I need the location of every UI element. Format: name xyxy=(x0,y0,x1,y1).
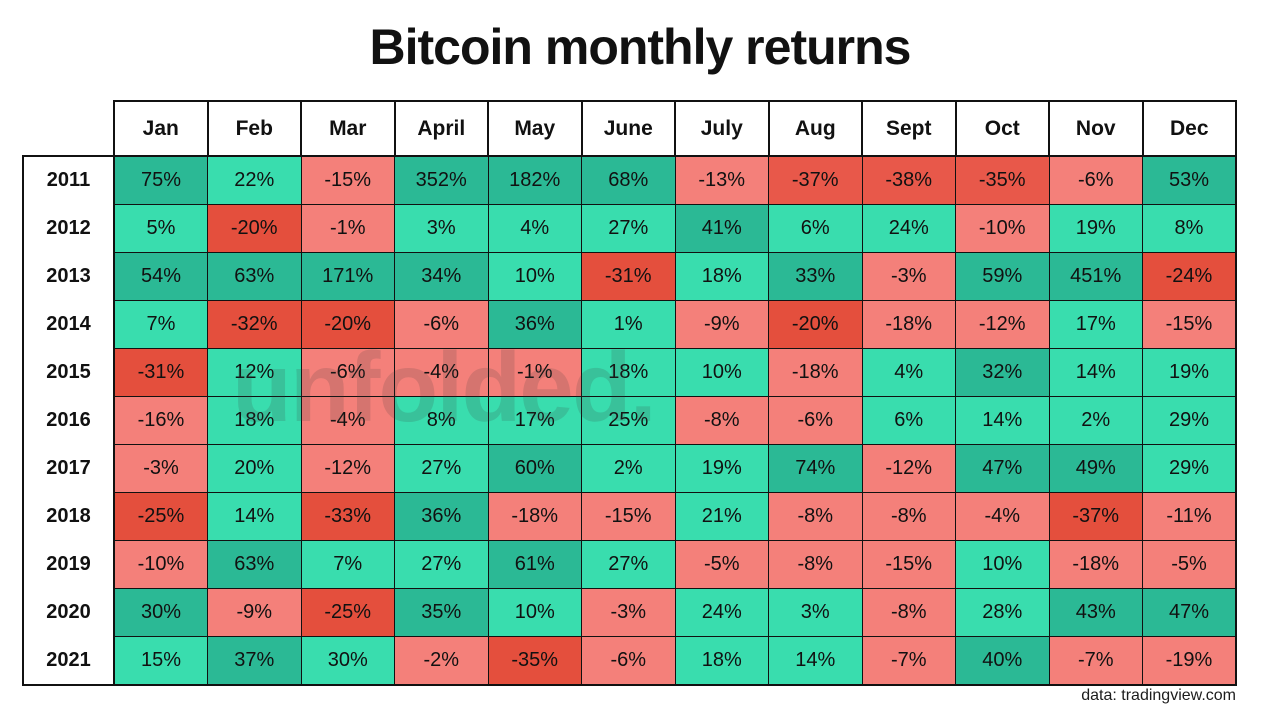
heatmap-cell-2020-nov: 43% xyxy=(1049,589,1143,637)
header-row: JanFebMarAprilMayJuneJulyAugSeptOctNovDe… xyxy=(23,101,1236,156)
heatmap-cell-2011-july: -13% xyxy=(675,156,769,205)
heatmap-cell-2016-dec: 29% xyxy=(1143,397,1237,445)
heatmap-cell-2019-mar: 7% xyxy=(301,541,395,589)
row-header-year-2020: 2020 xyxy=(23,589,114,637)
row-header-year-2019: 2019 xyxy=(23,541,114,589)
heatmap-cell-2013-april: 34% xyxy=(395,253,489,301)
table-row: 20125%-20%-1%3%4%27%41%6%24%-10%19%8% xyxy=(23,205,1236,253)
heatmap-cell-2015-feb: 12% xyxy=(208,349,302,397)
heatmap-cell-2017-oct: 47% xyxy=(956,445,1050,493)
heatmap-cell-2011-mar: -15% xyxy=(301,156,395,205)
heatmap-cell-2015-dec: 19% xyxy=(1143,349,1237,397)
heatmap-cell-2011-may: 182% xyxy=(488,156,582,205)
heatmap-cell-2020-aug: 3% xyxy=(769,589,863,637)
heatmap-cell-2012-dec: 8% xyxy=(1143,205,1237,253)
heatmap-cell-2013-dec: -24% xyxy=(1143,253,1237,301)
heatmap-cell-2020-april: 35% xyxy=(395,589,489,637)
heatmap-cell-2014-jan: 7% xyxy=(114,301,208,349)
heatmap-table-container: JanFebMarAprilMayJuneJulyAugSeptOctNovDe… xyxy=(22,100,1236,686)
heatmap-cell-2021-dec: -19% xyxy=(1143,637,1237,686)
table-row: 201175%22%-15%352%182%68%-13%-37%-38%-35… xyxy=(23,156,1236,205)
heatmap-cell-2021-sept: -7% xyxy=(862,637,956,686)
heatmap-cell-2014-oct: -12% xyxy=(956,301,1050,349)
heatmap-cell-2018-june: -15% xyxy=(582,493,676,541)
table-row: 202115%37%30%-2%-35%-6%18%14%-7%40%-7%-1… xyxy=(23,637,1236,686)
column-header-june: June xyxy=(582,101,676,156)
row-header-year-2013: 2013 xyxy=(23,253,114,301)
heatmap-cell-2021-feb: 37% xyxy=(208,637,302,686)
heatmap-cell-2020-sept: -8% xyxy=(862,589,956,637)
column-header-april: April xyxy=(395,101,489,156)
heatmap-cell-2013-oct: 59% xyxy=(956,253,1050,301)
heatmap-cell-2014-dec: -15% xyxy=(1143,301,1237,349)
heatmap-cell-2019-oct: 10% xyxy=(956,541,1050,589)
heatmap-cell-2016-nov: 2% xyxy=(1049,397,1143,445)
heatmap-cell-2012-feb: -20% xyxy=(208,205,302,253)
heatmap-cell-2015-jan: -31% xyxy=(114,349,208,397)
heatmap-cell-2019-april: 27% xyxy=(395,541,489,589)
heatmap-cell-2020-dec: 47% xyxy=(1143,589,1237,637)
heatmap-cell-2018-april: 36% xyxy=(395,493,489,541)
table-row: 201354%63%171%34%10%-31%18%33%-3%59%451%… xyxy=(23,253,1236,301)
table-row: 20147%-32%-20%-6%36%1%-9%-20%-18%-12%17%… xyxy=(23,301,1236,349)
heatmap-cell-2021-aug: 14% xyxy=(769,637,863,686)
heatmap-cell-2020-may: 10% xyxy=(488,589,582,637)
corner-cell xyxy=(23,101,114,156)
heatmap-cell-2021-nov: -7% xyxy=(1049,637,1143,686)
heatmap-cell-2016-july: -8% xyxy=(675,397,769,445)
heatmap-cell-2019-may: 61% xyxy=(488,541,582,589)
heatmap-cell-2018-sept: -8% xyxy=(862,493,956,541)
column-header-sept: Sept xyxy=(862,101,956,156)
heatmap-cell-2012-jan: 5% xyxy=(114,205,208,253)
row-header-year-2015: 2015 xyxy=(23,349,114,397)
heatmap-cell-2018-mar: -33% xyxy=(301,493,395,541)
heatmap-cell-2012-july: 41% xyxy=(675,205,769,253)
heatmap-cell-2016-may: 17% xyxy=(488,397,582,445)
heatmap-cell-2017-mar: -12% xyxy=(301,445,395,493)
table-header: JanFebMarAprilMayJuneJulyAugSeptOctNovDe… xyxy=(23,101,1236,156)
heatmap-cell-2017-sept: -12% xyxy=(862,445,956,493)
heatmap-cell-2017-may: 60% xyxy=(488,445,582,493)
heatmap-cell-2020-july: 24% xyxy=(675,589,769,637)
column-header-feb: Feb xyxy=(208,101,302,156)
heatmap-cell-2012-sept: 24% xyxy=(862,205,956,253)
column-header-jan: Jan xyxy=(114,101,208,156)
row-header-year-2014: 2014 xyxy=(23,301,114,349)
heatmap-cell-2013-mar: 171% xyxy=(301,253,395,301)
heatmap-cell-2015-mar: -6% xyxy=(301,349,395,397)
column-header-mar: Mar xyxy=(301,101,395,156)
heatmap-cell-2021-mar: 30% xyxy=(301,637,395,686)
row-header-year-2018: 2018 xyxy=(23,493,114,541)
heatmap-cell-2015-june: 18% xyxy=(582,349,676,397)
heatmap-cell-2018-may: -18% xyxy=(488,493,582,541)
heatmap-cell-2019-dec: -5% xyxy=(1143,541,1237,589)
heatmap-cell-2013-feb: 63% xyxy=(208,253,302,301)
table-row: 2016-16%18%-4%8%17%25%-8%-6%6%14%2%29% xyxy=(23,397,1236,445)
heatmap-cell-2013-june: -31% xyxy=(582,253,676,301)
heatmap-cell-2019-july: -5% xyxy=(675,541,769,589)
heatmap-cell-2014-aug: -20% xyxy=(769,301,863,349)
heatmap-cell-2014-may: 36% xyxy=(488,301,582,349)
table-body: 201175%22%-15%352%182%68%-13%-37%-38%-35… xyxy=(23,156,1236,685)
heatmap-cell-2021-july: 18% xyxy=(675,637,769,686)
heatmap-cell-2019-june: 27% xyxy=(582,541,676,589)
heatmap-cell-2013-sept: -3% xyxy=(862,253,956,301)
column-header-aug: Aug xyxy=(769,101,863,156)
heatmap-cell-2020-mar: -25% xyxy=(301,589,395,637)
table-row: 2017-3%20%-12%27%60%2%19%74%-12%47%49%29… xyxy=(23,445,1236,493)
heatmap-cell-2014-june: 1% xyxy=(582,301,676,349)
table-row: 2018-25%14%-33%36%-18%-15%21%-8%-8%-4%-3… xyxy=(23,493,1236,541)
heatmap-cell-2018-jan: -25% xyxy=(114,493,208,541)
heatmap-cell-2014-feb: -32% xyxy=(208,301,302,349)
heatmap-cell-2011-june: 68% xyxy=(582,156,676,205)
heatmap-cell-2011-nov: -6% xyxy=(1049,156,1143,205)
heatmap-cell-2016-oct: 14% xyxy=(956,397,1050,445)
heatmap-cell-2015-aug: -18% xyxy=(769,349,863,397)
row-header-year-2017: 2017 xyxy=(23,445,114,493)
row-header-year-2021: 2021 xyxy=(23,637,114,686)
heatmap-cell-2013-jan: 54% xyxy=(114,253,208,301)
heatmap-cell-2011-oct: -35% xyxy=(956,156,1050,205)
heatmap-cell-2012-april: 3% xyxy=(395,205,489,253)
table-row: 2019-10%63%7%27%61%27%-5%-8%-15%10%-18%-… xyxy=(23,541,1236,589)
column-header-nov: Nov xyxy=(1049,101,1143,156)
heatmap-cell-2017-jan: -3% xyxy=(114,445,208,493)
heatmap-cell-2015-may: -1% xyxy=(488,349,582,397)
heatmap-cell-2015-oct: 32% xyxy=(956,349,1050,397)
heatmap-cell-2012-oct: -10% xyxy=(956,205,1050,253)
column-header-july: July xyxy=(675,101,769,156)
heatmap-cell-2016-jan: -16% xyxy=(114,397,208,445)
heatmap-cell-2018-nov: -37% xyxy=(1049,493,1143,541)
heatmap-cell-2018-feb: 14% xyxy=(208,493,302,541)
heatmap-cell-2013-may: 10% xyxy=(488,253,582,301)
source-note: data: tradingview.com xyxy=(1081,687,1236,705)
column-header-oct: Oct xyxy=(956,101,1050,156)
heatmap-cell-2020-jan: 30% xyxy=(114,589,208,637)
heatmap-cell-2016-aug: -6% xyxy=(769,397,863,445)
heatmap-cell-2011-dec: 53% xyxy=(1143,156,1237,205)
heatmap-cell-2014-july: -9% xyxy=(675,301,769,349)
row-header-year-2016: 2016 xyxy=(23,397,114,445)
monthly-returns-heatmap: JanFebMarAprilMayJuneJulyAugSeptOctNovDe… xyxy=(22,100,1237,686)
heatmap-cell-2016-april: 8% xyxy=(395,397,489,445)
heatmap-cell-2015-sept: 4% xyxy=(862,349,956,397)
table-row: 2015-31%12%-6%-4%-1%18%10%-18%4%32%14%19… xyxy=(23,349,1236,397)
heatmap-cell-2011-jan: 75% xyxy=(114,156,208,205)
heatmap-cell-2018-dec: -11% xyxy=(1143,493,1237,541)
heatmap-cell-2019-jan: -10% xyxy=(114,541,208,589)
heatmap-cell-2016-mar: -4% xyxy=(301,397,395,445)
heatmap-cell-2020-june: -3% xyxy=(582,589,676,637)
heatmap-cell-2013-aug: 33% xyxy=(769,253,863,301)
heatmap-cell-2011-aug: -37% xyxy=(769,156,863,205)
heatmap-cell-2016-june: 25% xyxy=(582,397,676,445)
row-header-year-2011: 2011 xyxy=(23,156,114,205)
heatmap-cell-2018-oct: -4% xyxy=(956,493,1050,541)
heatmap-cell-2017-july: 19% xyxy=(675,445,769,493)
column-header-may: May xyxy=(488,101,582,156)
heatmap-cell-2021-may: -35% xyxy=(488,637,582,686)
heatmap-cell-2017-april: 27% xyxy=(395,445,489,493)
heatmap-cell-2017-aug: 74% xyxy=(769,445,863,493)
heatmap-cell-2014-nov: 17% xyxy=(1049,301,1143,349)
heatmap-cell-2017-june: 2% xyxy=(582,445,676,493)
heatmap-cell-2012-june: 27% xyxy=(582,205,676,253)
heatmap-cell-2013-july: 18% xyxy=(675,253,769,301)
heatmap-cell-2021-april: -2% xyxy=(395,637,489,686)
heatmap-cell-2020-feb: -9% xyxy=(208,589,302,637)
heatmap-cell-2014-sept: -18% xyxy=(862,301,956,349)
heatmap-cell-2020-oct: 28% xyxy=(956,589,1050,637)
heatmap-cell-2011-feb: 22% xyxy=(208,156,302,205)
heatmap-cell-2011-april: 352% xyxy=(395,156,489,205)
heatmap-cell-2014-april: -6% xyxy=(395,301,489,349)
heatmap-cell-2018-july: 21% xyxy=(675,493,769,541)
heatmap-cell-2012-mar: -1% xyxy=(301,205,395,253)
heatmap-cell-2015-april: -4% xyxy=(395,349,489,397)
heatmap-cell-2019-feb: 63% xyxy=(208,541,302,589)
heatmap-cell-2017-dec: 29% xyxy=(1143,445,1237,493)
heatmap-cell-2011-sept: -38% xyxy=(862,156,956,205)
heatmap-cell-2017-nov: 49% xyxy=(1049,445,1143,493)
heatmap-cell-2012-may: 4% xyxy=(488,205,582,253)
heatmap-cell-2012-aug: 6% xyxy=(769,205,863,253)
heatmap-cell-2014-mar: -20% xyxy=(301,301,395,349)
heatmap-cell-2015-july: 10% xyxy=(675,349,769,397)
column-header-dec: Dec xyxy=(1143,101,1237,156)
heatmap-cell-2019-nov: -18% xyxy=(1049,541,1143,589)
page-title: Bitcoin monthly returns xyxy=(0,18,1280,76)
heatmap-cell-2021-jan: 15% xyxy=(114,637,208,686)
heatmap-cell-2016-feb: 18% xyxy=(208,397,302,445)
heatmap-cell-2016-sept: 6% xyxy=(862,397,956,445)
heatmap-cell-2021-june: -6% xyxy=(582,637,676,686)
heatmap-cell-2021-oct: 40% xyxy=(956,637,1050,686)
table-row: 202030%-9%-25%35%10%-3%24%3%-8%28%43%47% xyxy=(23,589,1236,637)
heatmap-cell-2013-nov: 451% xyxy=(1049,253,1143,301)
heatmap-cell-2015-nov: 14% xyxy=(1049,349,1143,397)
heatmap-cell-2017-feb: 20% xyxy=(208,445,302,493)
row-header-year-2012: 2012 xyxy=(23,205,114,253)
heatmap-cell-2019-sept: -15% xyxy=(862,541,956,589)
heatmap-cell-2018-aug: -8% xyxy=(769,493,863,541)
heatmap-cell-2019-aug: -8% xyxy=(769,541,863,589)
heatmap-cell-2012-nov: 19% xyxy=(1049,205,1143,253)
